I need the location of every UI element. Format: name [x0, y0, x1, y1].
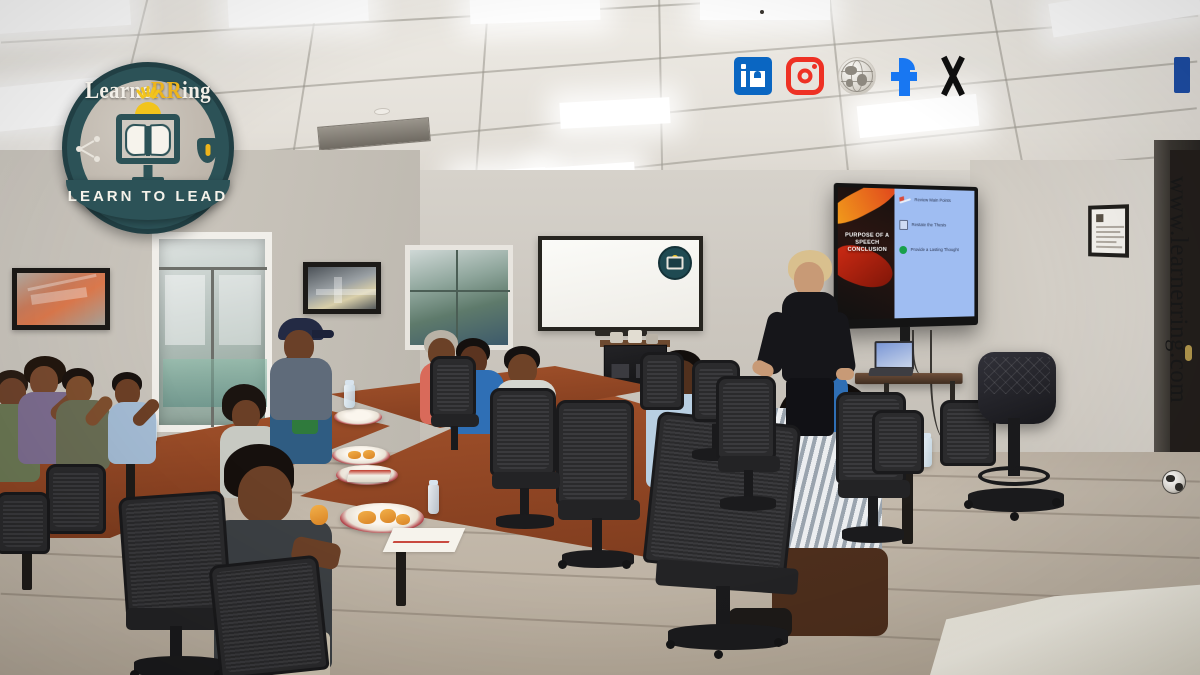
- green-dot-icon: [899, 246, 907, 254]
- social-icons-bar: [734, 56, 972, 96]
- bullet-text: Restate the Thesis: [912, 222, 947, 228]
- water-bottle: [344, 384, 355, 408]
- x-twitter-icon[interactable]: [934, 57, 972, 95]
- supply-cup: [628, 330, 642, 343]
- ceiling-light: [700, 0, 830, 20]
- slide-bullet: Provide a Lasting Thought: [899, 246, 971, 254]
- caster-icon: [964, 500, 973, 509]
- slide-bullets-panel: Review Main Points Restate the Thesis Pr…: [894, 189, 974, 319]
- exit-sign: [1174, 57, 1190, 93]
- logo-word-part3: ing: [182, 76, 211, 104]
- leather-drafting-stool[interactable]: [978, 352, 1056, 424]
- water-bottle: [428, 484, 439, 514]
- stool-base: [968, 488, 1064, 512]
- logo-banner: LEARN TO LEAD: [56, 174, 240, 226]
- document-icon: [899, 220, 908, 230]
- whiteboard: [538, 236, 703, 331]
- stool-footring: [978, 466, 1050, 486]
- learnerring-logo: LearneRRing LEARN TO LEAD: [62, 62, 234, 234]
- supply-cup: [610, 332, 623, 343]
- whiteboard-logo-icon: [658, 246, 692, 280]
- network-node-icon: [76, 136, 102, 162]
- wall-mounted-tv: PURPOSE OF A SPEECH CONCLUSION Review Ma…: [834, 183, 978, 329]
- laptop-keyboard[interactable]: [868, 368, 914, 376]
- pen-icon: [899, 196, 911, 204]
- presentation-screen: PURPOSE OF A SPEECH CONCLUSION Review Ma…: [838, 187, 975, 320]
- exterior-window: [405, 245, 513, 350]
- food-plate: [334, 409, 382, 425]
- website-globe-icon[interactable]: [838, 57, 876, 95]
- slide-title: PURPOSE OF A SPEECH CONCLUSION: [843, 232, 891, 254]
- facebook-icon[interactable]: [890, 56, 920, 96]
- napkin: [383, 528, 466, 552]
- tv-cable: [912, 330, 930, 376]
- bullet-text: Provide a Lasting Thought: [911, 247, 959, 253]
- slide-title-panel: PURPOSE OF A SPEECH CONCLUSION: [838, 187, 894, 320]
- logo-tagline: LEARN TO LEAD: [56, 188, 240, 205]
- website-watermark: www.learnerring.com: [1164, 176, 1192, 403]
- globe-icon: [1162, 470, 1186, 494]
- slide-bullet: Restate the Thesis: [899, 220, 971, 231]
- caster-icon: [1052, 498, 1061, 507]
- laptop[interactable]: [875, 341, 914, 369]
- bullet-text: Review Main Points: [915, 197, 951, 204]
- open-book-icon: [125, 124, 171, 156]
- book[interactable]: [347, 470, 392, 482]
- aircraft-photo: [303, 262, 381, 314]
- instagram-icon[interactable]: [786, 57, 824, 95]
- framed-certificate: [1088, 204, 1129, 257]
- supply-cup: [646, 334, 658, 344]
- laptop-screen: [876, 343, 911, 367]
- caster-icon: [1010, 512, 1019, 521]
- food-item: [310, 505, 328, 525]
- helicopter-photo: [12, 268, 110, 330]
- food-plate: [332, 446, 390, 465]
- slide-bullet: Review Main Points: [899, 196, 971, 206]
- classroom-photo: PURPOSE OF A SPEECH CONCLUSION Review Ma…: [0, 0, 1200, 675]
- linkedin-icon[interactable]: [734, 57, 772, 95]
